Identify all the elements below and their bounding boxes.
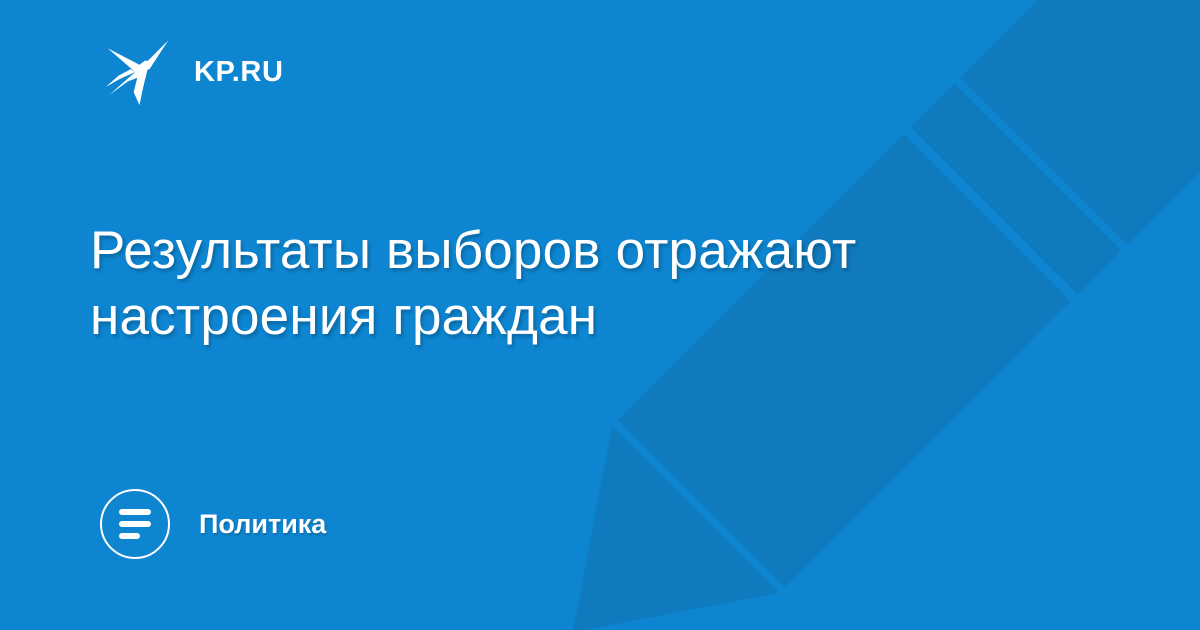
list-line-1 [119,509,151,515]
page-title: Результаты выборов отражают настроения г… [90,218,1050,351]
brand-name: KP.RU [194,58,284,87]
category-label: Политика [199,511,326,538]
list-line-3 [119,533,140,539]
list-line-2 [119,521,151,527]
list-lines-icon [100,489,170,559]
headline-line-1: Результаты выборов отражают [90,218,1050,284]
headline-line-2: настроения граждан [90,284,1050,350]
share-card: KP.RU Результаты выборов отражают настро… [0,0,1200,630]
brand-row[interactable]: KP.RU [102,36,284,108]
kp-swallow-bird-logo [102,36,174,108]
category-badge[interactable]: Политика [100,488,326,560]
